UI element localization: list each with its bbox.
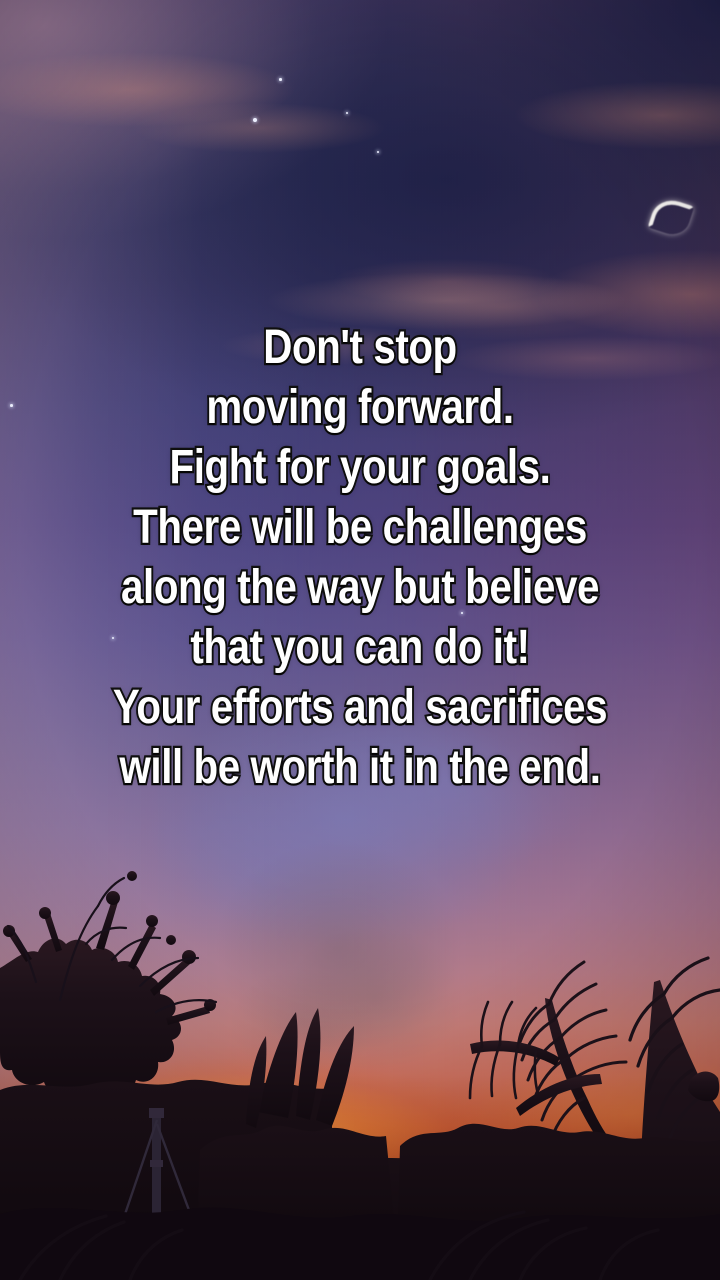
tree-silhouette-right-small bbox=[688, 1072, 719, 1102]
star bbox=[377, 151, 379, 153]
star bbox=[253, 118, 257, 122]
ground-mass bbox=[0, 1147, 720, 1280]
palm-frond-silhouette-right bbox=[470, 958, 720, 1280]
foreground-grass bbox=[0, 1208, 720, 1280]
bush-mid bbox=[196, 1126, 400, 1280]
quote-line: that you can do it! bbox=[58, 618, 663, 678]
quote-text-block: Don't stop moving forward. Fight for you… bbox=[0, 318, 720, 798]
banana-leaf-silhouette bbox=[246, 1008, 354, 1128]
utility-pole bbox=[80, 1108, 250, 1280]
star bbox=[346, 112, 348, 114]
quote-line: There will be challenges bbox=[58, 498, 663, 558]
tree-silhouette-left bbox=[0, 871, 216, 1097]
shrub-band-left bbox=[0, 1080, 340, 1280]
quote-line: Don't stop bbox=[58, 318, 663, 378]
quote-line: along the way but believe bbox=[58, 558, 663, 618]
quote-line: Fight for your goals. bbox=[58, 438, 663, 498]
quote-poster: Don't stop moving forward. Fight for you… bbox=[0, 0, 720, 1280]
tree-line-right bbox=[396, 1124, 720, 1280]
quote-line: moving forward. bbox=[58, 378, 663, 438]
quote-line: Your efforts and sacrifices bbox=[58, 678, 663, 738]
crescent-light-streak-icon bbox=[648, 195, 695, 239]
quote-line: will be worth it in the end. bbox=[58, 738, 663, 798]
foreground-fronds-bottom bbox=[20, 1212, 658, 1280]
star bbox=[279, 78, 282, 81]
tree-twigs-left bbox=[8, 878, 216, 1012]
